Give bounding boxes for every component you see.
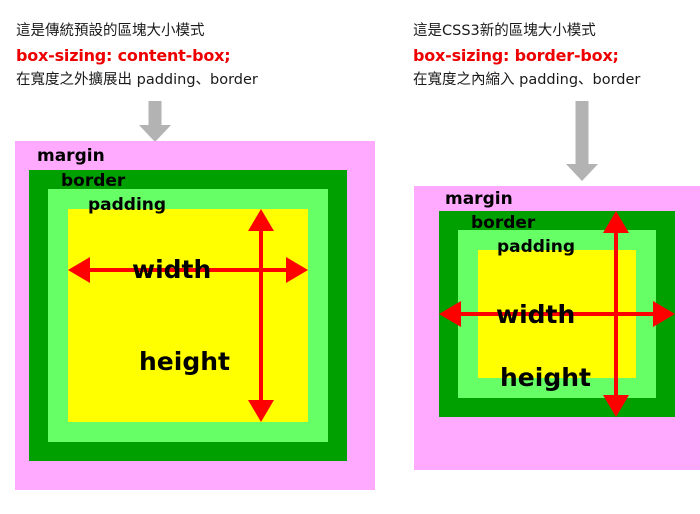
arrow-head-bottom xyxy=(603,395,629,417)
left-caption-line-1: 這是傳統預設的區塊大小模式 xyxy=(16,20,258,43)
arrow-head-bottom xyxy=(248,400,274,422)
border-label: border xyxy=(61,173,125,190)
arrow-shaft xyxy=(149,101,162,126)
margin-label: margin xyxy=(445,191,513,208)
arrow-line xyxy=(614,224,618,404)
arrow-line xyxy=(259,222,263,409)
content-box-diagram: margin border padding width height xyxy=(15,141,375,490)
right-caption-code: box-sizing: border-box; xyxy=(413,43,640,69)
arrow-head xyxy=(566,164,598,181)
arrow-head xyxy=(139,125,171,142)
arrow-shaft xyxy=(576,101,589,165)
margin-label: margin xyxy=(37,148,105,165)
height-label: height xyxy=(500,365,591,390)
left-caption-code: box-sizing: content-box; xyxy=(16,43,258,69)
border-label: border xyxy=(471,215,535,232)
height-arrow xyxy=(603,211,629,417)
border-box-diagram: margin border padding width height xyxy=(414,186,700,470)
right-caption-line-3: 在寬度之內縮入 padding、border xyxy=(413,69,640,92)
right-caption-block: 這是CSS3新的區塊大小模式 box-sizing: border-box; 在… xyxy=(413,20,640,93)
right-caption-line-1: 這是CSS3新的區塊大小模式 xyxy=(413,20,640,43)
gray-down-arrow-icon-left xyxy=(138,101,172,142)
width-label: width xyxy=(132,257,211,282)
left-caption-block: 這是傳統預設的區塊大小模式 box-sizing: content-box; 在… xyxy=(16,20,258,93)
arrow-head-right xyxy=(653,301,675,327)
arrow-head-right xyxy=(286,257,308,283)
padding-label: padding xyxy=(88,197,166,214)
padding-label: padding xyxy=(497,239,575,256)
height-label: height xyxy=(139,349,230,374)
height-arrow xyxy=(248,209,274,422)
gray-down-arrow-icon-right xyxy=(565,101,599,181)
left-caption-line-3: 在寬度之外擴展出 padding、border xyxy=(16,69,258,92)
width-label: width xyxy=(496,302,575,327)
